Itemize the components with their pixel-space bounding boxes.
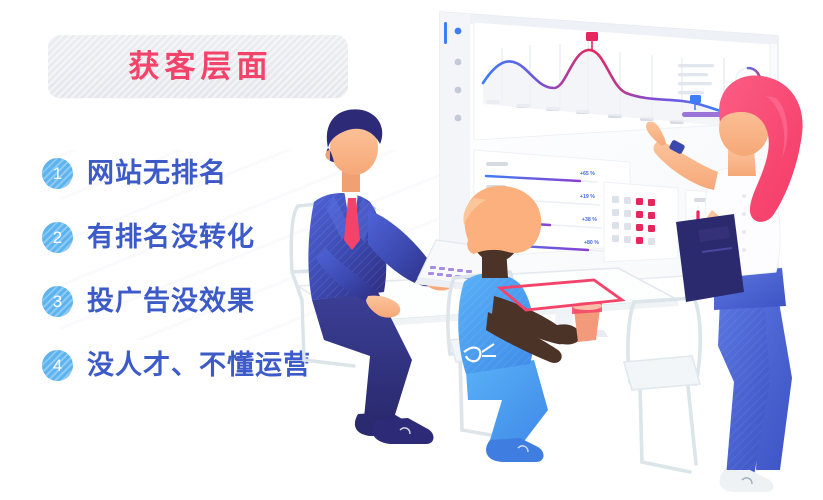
sidebar-nav-dot-1[interactable]	[455, 28, 462, 35]
sidebar-active-accent	[444, 22, 447, 44]
list-item-number-badge: 4	[42, 350, 73, 381]
office-team-dashboard-illustration: +65 % +19 % +38 %	[258, 0, 823, 500]
list-item-number-badge: 1	[42, 158, 73, 189]
sidebar-nav-dot-4[interactable]	[455, 115, 462, 122]
progress-value: +38 %	[582, 217, 597, 223]
list-item-label: 网站无排名	[87, 160, 227, 187]
list-item-label: 投广告没效果	[87, 288, 255, 315]
page-title: 获客层面	[124, 51, 273, 82]
sidebar-nav-dot-2[interactable]	[455, 59, 462, 66]
progress-value: +65 %	[580, 171, 595, 177]
list-item-number-badge: 2	[42, 222, 73, 253]
list-item-number-badge: 3	[42, 286, 73, 317]
list-item-label: 有排名没转化	[87, 224, 255, 251]
progress-value: +19 %	[580, 194, 595, 200]
clipboard	[676, 214, 744, 302]
progress-value: +80 %	[584, 240, 599, 246]
sidebar-nav-dot-3[interactable]	[455, 87, 462, 94]
heatmap-grid[interactable]	[604, 182, 678, 262]
scene-root: 获客层面 1 网站无排名 2 有排名没转化 3 投广告没效果 4 没人才、不懂运…	[0, 0, 823, 500]
